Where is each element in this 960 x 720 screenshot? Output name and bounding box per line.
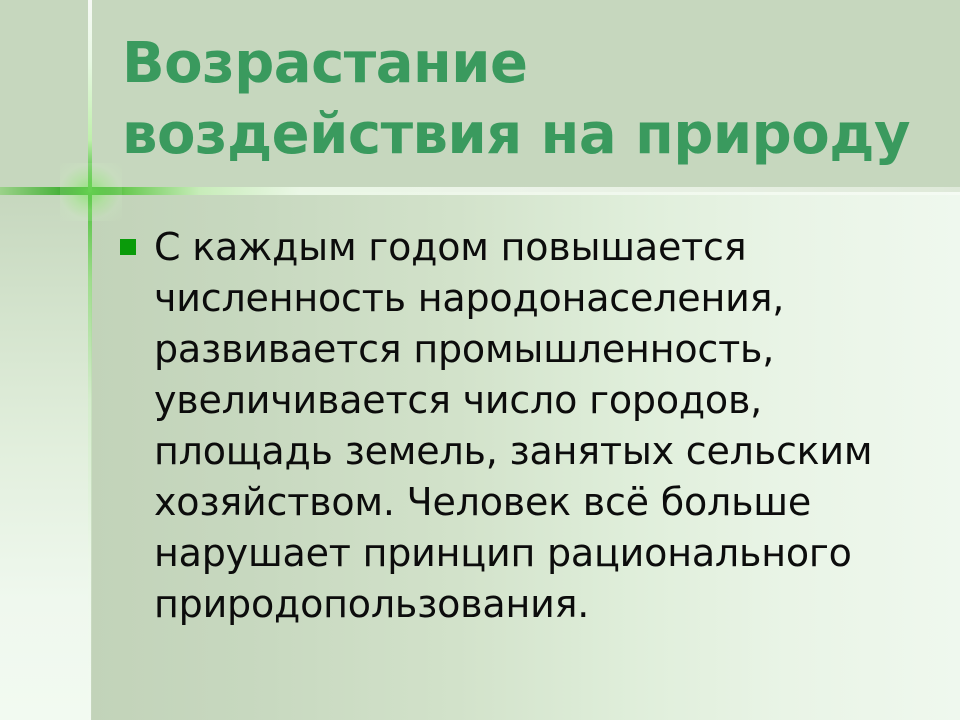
list-item: С каждым годом повышается численность на…	[120, 222, 920, 630]
presentation-slide: Возрастание воздействия на природу С каж…	[0, 0, 960, 720]
bullet-item-text: С каждым годом повышается численность на…	[154, 222, 920, 630]
horizontal-divider-line	[0, 187, 960, 195]
cross-intersection-glow-icon	[60, 163, 122, 221]
square-bullet-icon	[120, 239, 136, 255]
slide-left-column-background	[0, 0, 91, 720]
slide-title: Возрастание воздействия на природу	[122, 28, 932, 170]
slide-body: С каждым годом повышается численность на…	[120, 222, 920, 630]
slide-title-line-2: воздействия на природу	[122, 99, 932, 170]
vertical-accent-line	[88, 0, 92, 720]
slide-title-line-1: Возрастание	[122, 28, 932, 99]
